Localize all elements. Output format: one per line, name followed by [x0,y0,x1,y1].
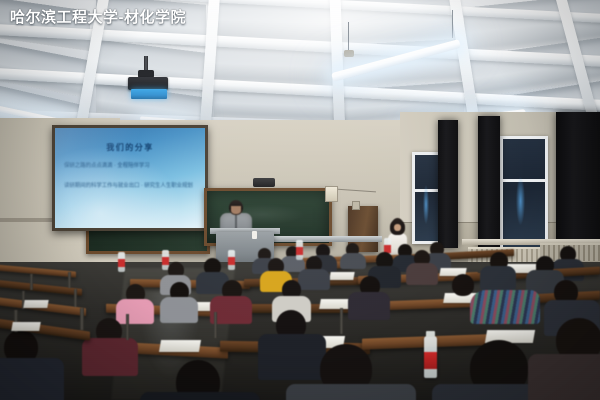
student-torso [286,384,416,400]
curtain-center[interactable] [438,120,458,248]
projector-lens-icon [131,89,167,99]
student-torso [340,253,366,269]
student-torso-maroon [82,338,138,376]
cup [252,231,257,239]
window-right-rear [500,136,548,250]
student-torso [298,269,330,290]
slide-bullet-2: 读研期间的科学工作与就业出口 · 研究生人生职业规划 [64,183,198,190]
student-torso [406,263,438,285]
wall-speaker-icon [253,178,275,187]
water-bottle [118,252,125,272]
slide-title: 我们的分享 [55,142,205,153]
student-head [452,274,474,296]
water-bottle [424,336,437,378]
student-torso-striped [470,290,540,324]
student-torso [480,266,516,290]
watermark-text: 哈尔滨工程大学-材化学院 [10,9,186,27]
projection-screen: 我们的分享 保研之路的点点滴滴 · 全程陪伴学习 读研期间的科学工作与就业出口 … [52,125,208,231]
water-bottle [228,250,235,270]
handout-paper [159,340,201,352]
curtain-right[interactable] [556,112,600,252]
student-torso [0,358,64,400]
wall-control-box[interactable] [325,186,338,202]
student-torso [160,297,198,323]
curtain-left[interactable] [478,116,500,248]
student-torso [140,392,260,400]
handout-paper [23,300,48,308]
handout-paper [11,322,41,331]
front-desk-surface [274,236,382,242]
classroom-photo: 我们的分享 保研之路的点点滴滴 · 全程陪伴学习 读研期间的科学工作与就业出口 … [0,0,600,400]
handout-paper [329,272,354,280]
handout-paper [319,299,351,309]
student-torso [348,292,390,320]
student-torso-pink [116,299,154,324]
slide-bullet-1: 保研之路的点点滴滴 · 全程陪伴学习 [64,163,198,170]
wall-outlet [352,201,360,210]
water-bottle [296,240,303,260]
student-torso [528,354,600,400]
student-torso [258,334,326,380]
